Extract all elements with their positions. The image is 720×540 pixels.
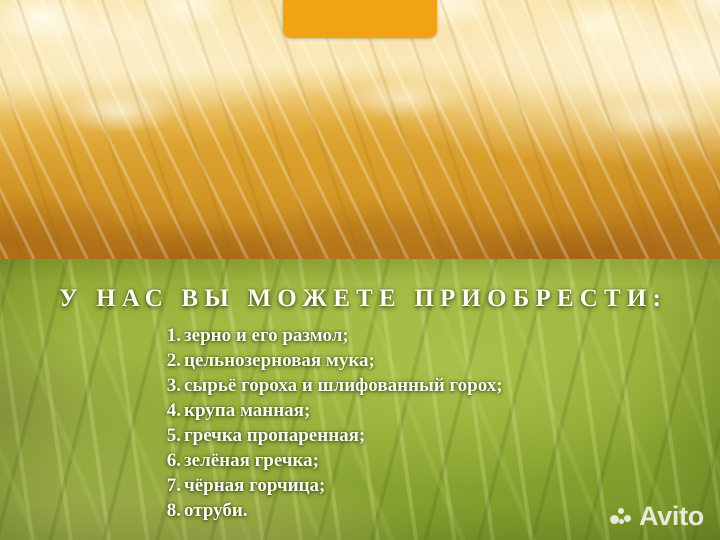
list-item-label: зерно и его размол; [181, 325, 349, 347]
list-item: 3. сырьё гороха и шлифованный горох; [0, 375, 720, 400]
list-item: 6. зелёная гречка; [0, 450, 720, 475]
list-item-label: чёрная горчица; [181, 475, 325, 497]
product-list: 1. зерно и его размол; 2. цельнозерновая… [0, 325, 720, 525]
avito-dots-icon [610, 506, 634, 528]
list-item-number: 5. [0, 425, 181, 447]
orange-badge-plate [283, 0, 437, 38]
list-item: 4. крупа манная; [0, 400, 720, 425]
list-item: 1. зерно и его размол; [0, 325, 720, 350]
panel-content: У НАС ВЫ МОЖЕТЕ ПРИОБРЕСТИ: 1. зерно и е… [0, 259, 720, 540]
list-item-number: 8. [0, 500, 181, 522]
list-item: 5. гречка пропаренная; [0, 425, 720, 450]
list-item-number: 6. [0, 450, 181, 472]
green-grass-panel: У НАС ВЫ МОЖЕТЕ ПРИОБРЕСТИ: 1. зерно и е… [0, 259, 720, 540]
list-item-number: 2. [0, 350, 181, 372]
wheat-soft-focus [0, 0, 720, 260]
list-item-label: отруби. [181, 500, 248, 522]
wheat-photo [0, 0, 720, 260]
list-item-label: крупа манная; [181, 400, 310, 422]
list-item-label: зелёная гречка; [181, 450, 319, 472]
list-item-number: 3. [0, 375, 181, 397]
list-item-label: цельнозерновая мука; [181, 350, 375, 372]
list-item: 7. чёрная горчица; [0, 475, 720, 500]
list-item-label: гречка пропаренная; [181, 425, 365, 447]
avito-watermark: Avito [610, 503, 704, 530]
list-item-number: 1. [0, 325, 181, 347]
list-item: 2. цельнозерновая мука; [0, 350, 720, 375]
avito-wordmark: Avito [639, 503, 704, 530]
list-item-number: 7. [0, 475, 181, 497]
listing-image: У НАС ВЫ МОЖЕТЕ ПРИОБРЕСТИ: 1. зерно и е… [0, 0, 720, 540]
list-item-number: 4. [0, 400, 181, 422]
list-item-label: сырьё гороха и шлифованный горох; [181, 375, 503, 397]
headline: У НАС ВЫ МОЖЕТЕ ПРИОБРЕСТИ: [0, 285, 720, 313]
